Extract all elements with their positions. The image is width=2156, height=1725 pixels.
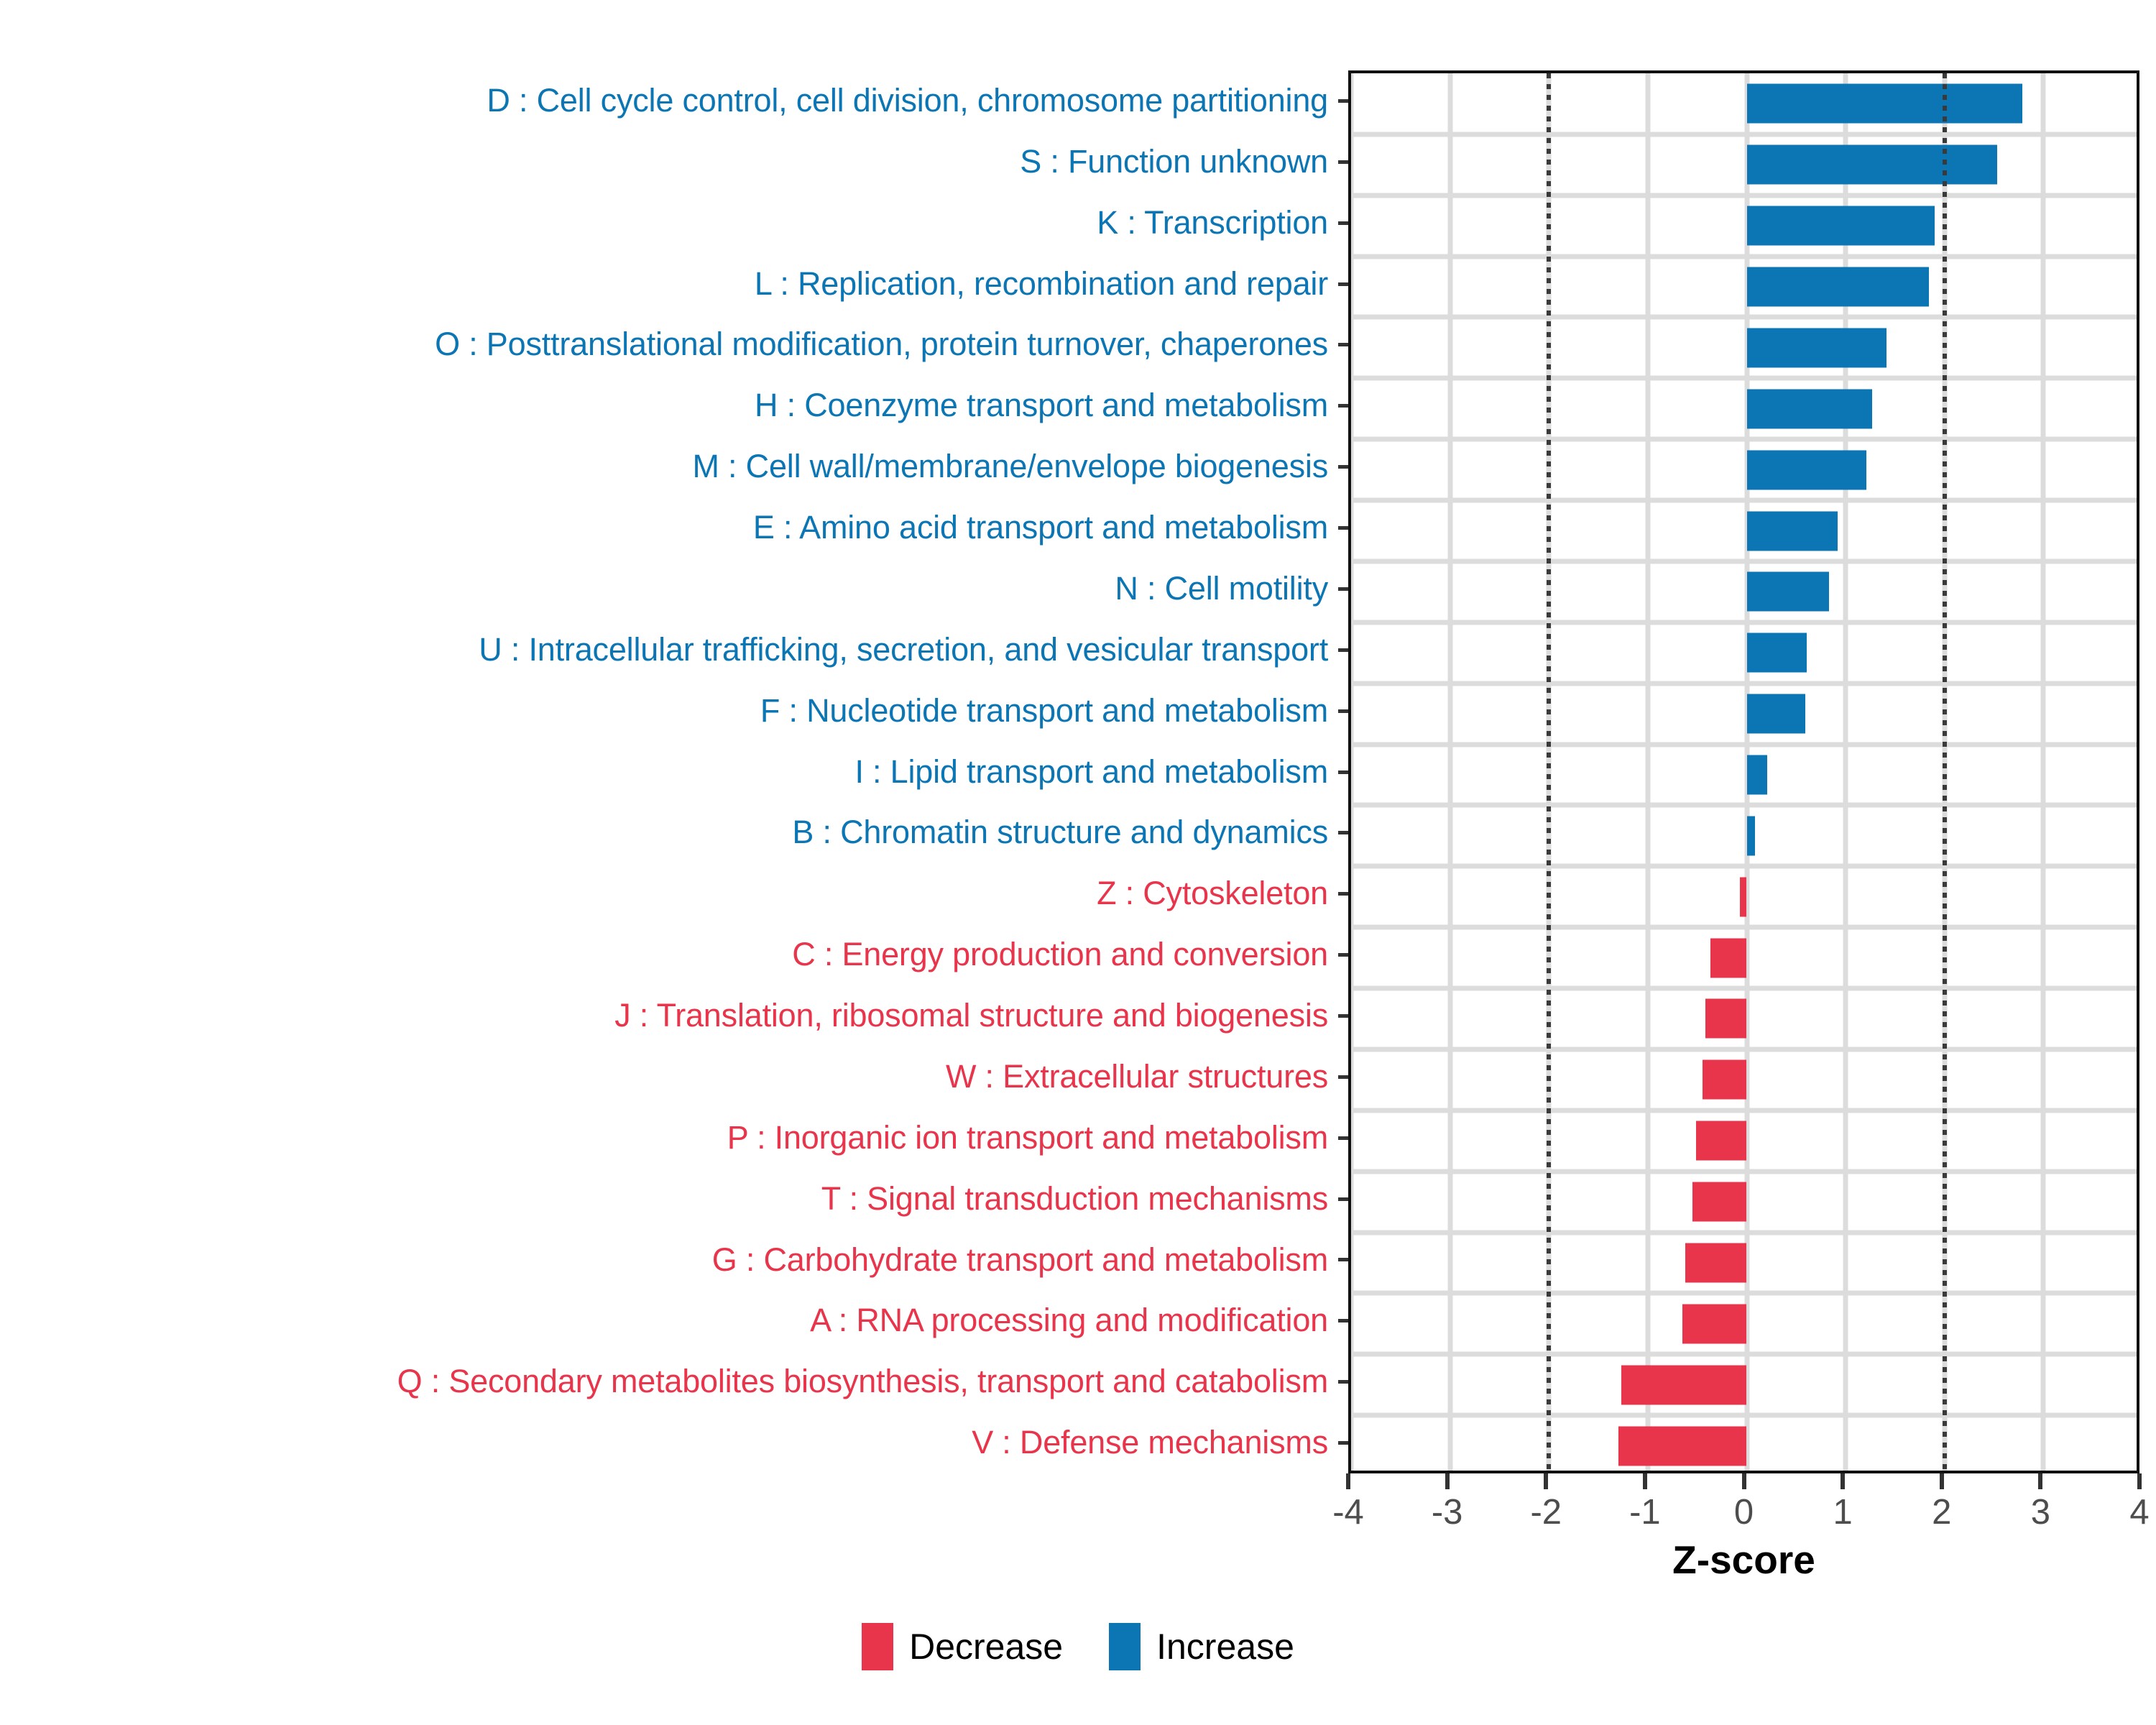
y-axis-tick-mark <box>1338 892 1348 896</box>
y-axis-label: C : Energy production and conversion <box>792 924 1328 985</box>
horizontal-gridline <box>1351 132 2137 137</box>
bar <box>1747 389 1873 428</box>
y-axis-tick-mark <box>1338 465 1348 469</box>
bar <box>1747 450 1867 489</box>
bar <box>1682 1304 1746 1343</box>
y-axis-tick-mark <box>1338 770 1348 774</box>
horizontal-gridline <box>1351 558 2137 563</box>
horizontal-gridline <box>1351 254 2137 259</box>
y-axis-category-labels: D : Cell cycle control, cell division, c… <box>0 70 1338 1473</box>
y-axis-label: V : Defense mechanisms <box>972 1412 1328 1473</box>
horizontal-gridline <box>1351 1108 2137 1113</box>
legend-color-swatch <box>1109 1623 1141 1670</box>
horizontal-gridline <box>1351 986 2137 991</box>
x-axis-tick-label: 3 <box>2031 1492 2050 1532</box>
bar <box>1692 1182 1747 1222</box>
legend-color-swatch <box>862 1623 893 1670</box>
horizontal-gridline <box>1351 498 2137 503</box>
horizontal-gridline <box>1351 681 2137 686</box>
bar <box>1747 267 1929 307</box>
bar <box>1621 1365 1747 1404</box>
x-axis-tick-label: -2 <box>1530 1492 1562 1532</box>
x-axis-tick-mark <box>1346 1473 1350 1489</box>
legend-item[interactable]: Increase <box>1109 1623 1294 1670</box>
y-axis-label: E : Amino acid transport and metabolism <box>753 497 1328 558</box>
cog-zscore-bar-chart: D : Cell cycle control, cell division, c… <box>0 0 2156 1725</box>
x-axis-tick-label: 2 <box>1932 1492 1951 1532</box>
legend: DecreaseIncrease <box>0 1623 2156 1670</box>
bar <box>1747 206 1935 246</box>
horizontal-gridline <box>1351 1352 2137 1357</box>
x-axis-tick-mark <box>2137 1473 2142 1489</box>
horizontal-gridline <box>1351 925 2137 930</box>
y-axis-label: Q : Secondary metabolites biosynthesis, … <box>397 1351 1328 1412</box>
y-axis-tick-mark <box>1338 526 1348 530</box>
y-axis-tick-mark <box>1338 1319 1348 1322</box>
x-axis-tick-label: 4 <box>2129 1492 2149 1532</box>
x-axis-tick-mark <box>1940 1473 1944 1489</box>
x-axis-tick-label: -3 <box>1432 1492 1463 1532</box>
bar <box>1705 999 1747 1039</box>
legend-item[interactable]: Decrease <box>862 1623 1063 1670</box>
y-axis-label: I : Lipid transport and metabolism <box>854 742 1328 803</box>
x-axis-tick-mark <box>2038 1473 2042 1489</box>
y-axis-tick-mark <box>1338 1441 1348 1445</box>
vertical-gridline <box>1645 73 1650 1471</box>
vertical-gridline <box>1349 73 1354 1471</box>
threshold-dotted-line <box>1547 73 1551 1471</box>
y-axis-label: D : Cell cycle control, cell division, c… <box>487 70 1328 132</box>
x-axis-tick-label: 1 <box>1833 1492 1852 1532</box>
y-axis-label: M : Cell wall/membrane/envelope biogenes… <box>692 436 1328 497</box>
y-axis-label: J : Translation, ribosomal structure and… <box>614 985 1328 1046</box>
y-axis-label: L : Replication, recombination and repai… <box>755 254 1328 315</box>
horizontal-gridline <box>1351 376 2137 381</box>
y-axis-tick-mark <box>1338 648 1348 652</box>
bar <box>1747 816 1755 855</box>
bar <box>1747 633 1807 673</box>
y-axis-label: B : Chromatin structure and dynamics <box>792 802 1328 863</box>
y-axis-label: P : Inorganic ion transport and metaboli… <box>727 1108 1328 1169</box>
y-axis-tick-mark <box>1338 1380 1348 1384</box>
bar <box>1618 1426 1747 1466</box>
y-axis-tick-mark <box>1338 709 1348 713</box>
y-axis-label: Z : Cytoskeleton <box>1097 863 1328 924</box>
bar <box>1747 328 1886 367</box>
y-axis-tick-mark <box>1338 1258 1348 1261</box>
y-axis-label: G : Carbohydrate transport and metabolis… <box>712 1230 1328 1291</box>
horizontal-gridline <box>1351 1413 2137 1418</box>
horizontal-gridline <box>1351 437 2137 442</box>
horizontal-gridline <box>1351 1230 2137 1235</box>
x-axis-tick-label: -4 <box>1332 1492 1364 1532</box>
horizontal-gridline <box>1351 315 2137 320</box>
bar <box>1747 145 1997 185</box>
legend-label: Decrease <box>909 1626 1063 1667</box>
bar <box>1747 84 2023 124</box>
y-axis-tick-mark <box>1338 282 1348 286</box>
x-axis-tick-mark <box>1544 1473 1548 1489</box>
y-axis-label: S : Function unknown <box>1020 132 1328 193</box>
horizontal-gridline <box>1351 1046 2137 1052</box>
y-axis-label: F : Nucleotide transport and metabolism <box>760 681 1328 742</box>
y-axis-label: W : Extracellular structures <box>946 1046 1328 1108</box>
y-axis-tick-mark <box>1338 1014 1348 1018</box>
y-axis-label: O : Posttranslational modification, prot… <box>435 314 1328 375</box>
y-axis-label: U : Intracellular trafficking, secretion… <box>479 620 1328 681</box>
y-axis-tick-mark <box>1338 1075 1348 1079</box>
x-axis-tick-mark <box>1841 1473 1845 1489</box>
horizontal-gridline <box>1351 803 2137 808</box>
bar <box>1740 877 1747 916</box>
vertical-gridline <box>2041 73 2046 1471</box>
y-axis-tick-mark <box>1338 953 1348 957</box>
threshold-dotted-line <box>1943 73 1947 1471</box>
x-axis-tick-label: -1 <box>1629 1492 1661 1532</box>
x-axis-tick-mark <box>1742 1473 1746 1489</box>
y-axis-label: A : RNA processing and modification <box>810 1290 1328 1351</box>
y-axis-tick-mark <box>1338 1136 1348 1140</box>
y-axis-tick-mark <box>1338 831 1348 834</box>
bar <box>1696 1121 1746 1161</box>
bar <box>1703 1060 1747 1100</box>
x-axis-tick-mark <box>1445 1473 1450 1489</box>
horizontal-gridline <box>1351 1291 2137 1296</box>
bar <box>1747 572 1829 612</box>
y-axis-tick-mark <box>1338 404 1348 408</box>
y-axis-label: T : Signal transduction mechanisms <box>821 1169 1328 1230</box>
x-axis-title: Z-score <box>1348 1537 2139 1583</box>
y-axis-tick-mark <box>1338 1197 1348 1201</box>
y-axis-tick-mark <box>1338 160 1348 164</box>
horizontal-gridline <box>1351 620 2137 625</box>
legend-label: Increase <box>1156 1626 1294 1667</box>
y-axis-tick-mark <box>1338 221 1348 225</box>
horizontal-gridline <box>1351 742 2137 747</box>
bar <box>1747 755 1768 795</box>
y-axis-label: K : Transcription <box>1097 193 1328 254</box>
bar <box>1747 694 1805 734</box>
y-axis-label: N : Cell motility <box>1115 558 1328 620</box>
y-axis-tick-mark <box>1338 99 1348 103</box>
x-axis-tick-label: 0 <box>1734 1492 1754 1532</box>
bar <box>1710 938 1747 977</box>
x-axis-tick-mark <box>1643 1473 1647 1489</box>
bar <box>1747 511 1838 551</box>
horizontal-gridline <box>1351 864 2137 869</box>
bar <box>1685 1243 1746 1282</box>
y-axis-tick-mark <box>1338 587 1348 591</box>
plot-panel <box>1348 70 2139 1473</box>
horizontal-gridline <box>1351 1169 2137 1174</box>
vertical-gridline <box>1447 73 1452 1471</box>
y-axis-label: H : Coenzyme transport and metabolism <box>755 375 1328 436</box>
horizontal-gridline <box>1351 193 2137 198</box>
y-axis-tick-mark <box>1338 343 1348 346</box>
